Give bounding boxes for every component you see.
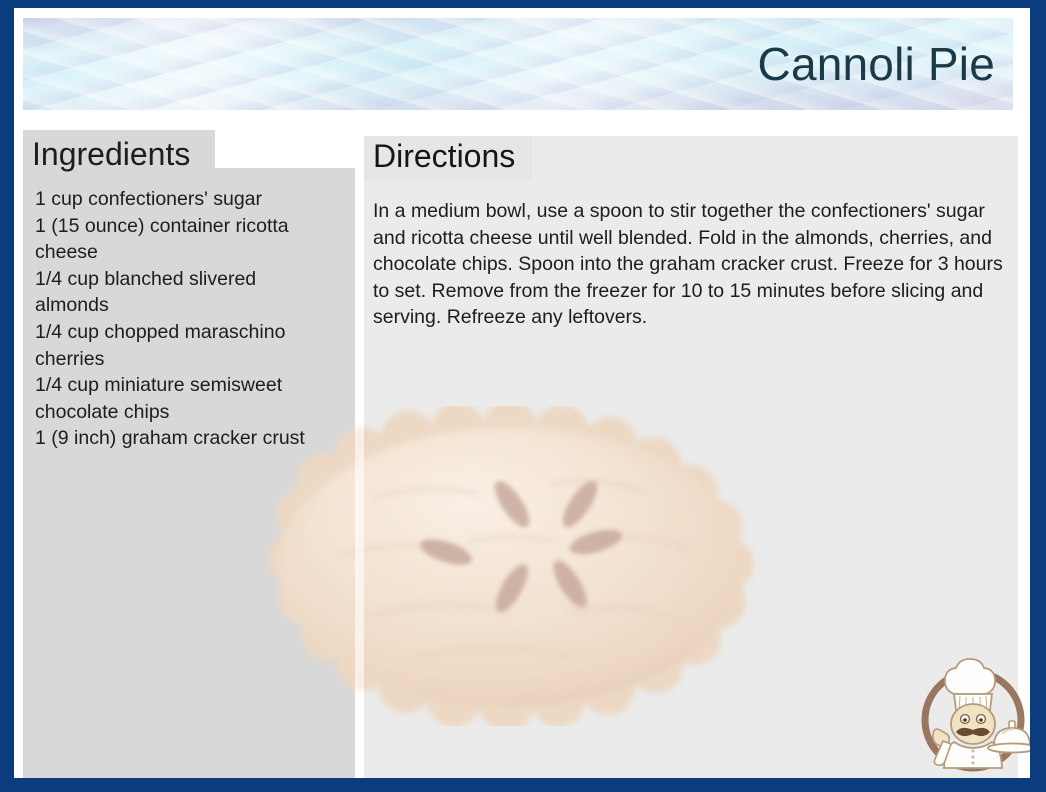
- title-banner: Cannoli Pie: [23, 18, 1013, 110]
- list-item: 1/4 cup chopped maraschino cherries: [35, 319, 335, 372]
- directions-body: In a medium bowl, use a spoon to stir to…: [373, 198, 1005, 331]
- recipe-page: Cannoli Pie Ingredients 1 cup confection…: [14, 8, 1030, 778]
- list-item: 1 (15 ounce) container ricotta cheese: [35, 213, 335, 266]
- list-item: 1 cup confectioners' sugar: [35, 186, 335, 213]
- list-item: 1 (9 inch) graham cracker crust: [35, 425, 335, 452]
- page-title: Cannoli Pie: [758, 37, 995, 91]
- chef-mascot-logo: [910, 648, 1030, 776]
- chef-face: [951, 704, 995, 744]
- panel-divider: [355, 168, 364, 778]
- ingredients-heading: Ingredients: [32, 136, 190, 173]
- ingredients-list: 1 cup confectioners' sugar 1 (15 ounce) …: [23, 186, 343, 452]
- list-item: 1/4 cup blanched slivered almonds: [35, 266, 335, 319]
- list-item: 1/4 cup miniature semisweet chocolate ch…: [35, 372, 335, 425]
- recipe-card: Cannoli Pie Ingredients 1 cup confection…: [0, 0, 1046, 792]
- directions-heading: Directions: [373, 138, 515, 175]
